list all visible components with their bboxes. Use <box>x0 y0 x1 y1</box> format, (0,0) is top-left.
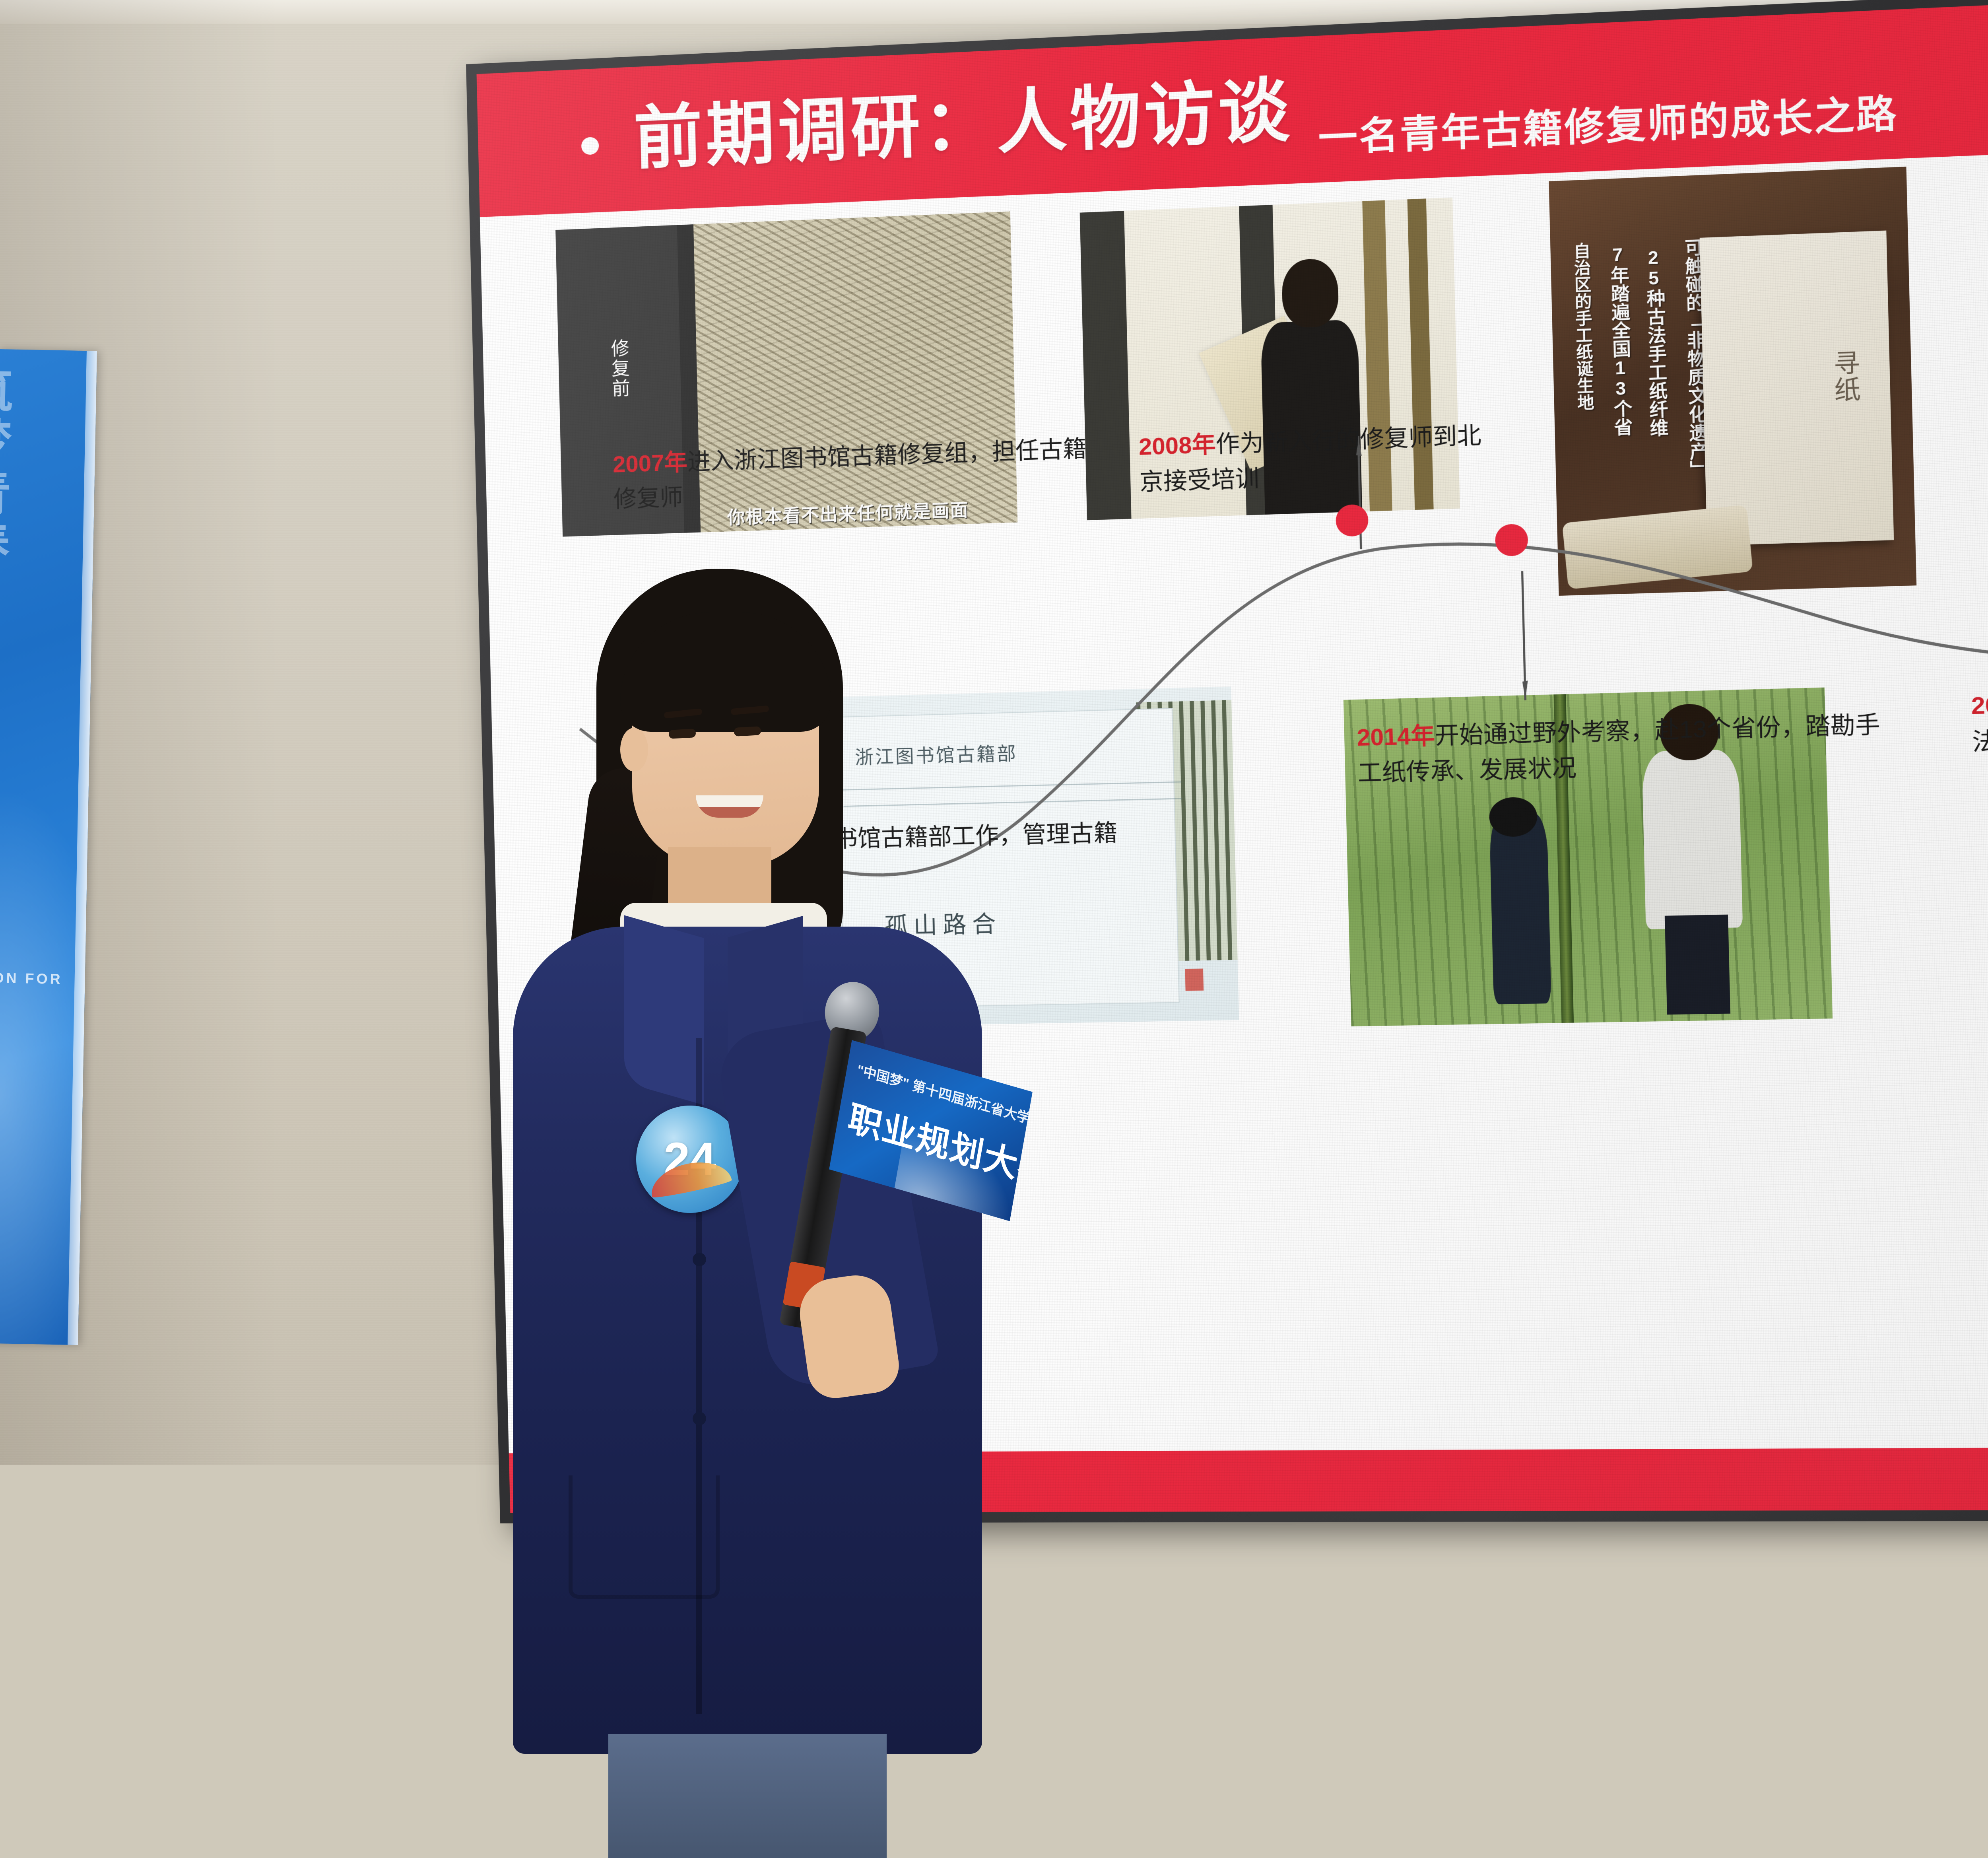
banner-line-1: 筑梦青春 <box>0 364 19 572</box>
jeans <box>608 1734 887 1858</box>
contestant-badge: 24 <box>636 1106 744 1213</box>
coat-button <box>693 1253 706 1266</box>
screenshot-root: 筑梦青春 生 TITION FOR 赛 前期调研：人物访谈 一名青年古籍修复师的… <box>0 0 1988 1858</box>
timeline-year-2023: 2023年 <box>1971 690 1988 719</box>
coat-pocket <box>569 1475 720 1599</box>
timeline-entry-2008: 2008年作为新入行的修复师到北京接受培训 <box>1138 417 1497 500</box>
coat-lapel-left <box>624 915 704 1105</box>
timeline-year-2007: 2007年 <box>612 449 687 478</box>
eye-left <box>668 729 696 739</box>
timeline-year-2008: 2008年 <box>1138 431 1216 460</box>
presenter: 24 "中国梦" 第十四届浙江省大学生 职业规划大赛 <box>489 569 1006 1857</box>
connector-line <box>1522 571 1526 700</box>
timeline-year-2014: 2014年 <box>1357 723 1435 751</box>
slide-subtitle: 一名青年古籍修复师的成长之路 <box>1318 82 1899 163</box>
timeline-entry-2014: 2014年开始通过野外考察，赴13个省份，踏勘手工纸传承、发展状况 <box>1357 707 1891 791</box>
timeline-entry-2023: 2023年出版《寻纸》，记录中国传统古法手工纸技艺之旅 <box>1971 676 1988 760</box>
slide-title: 前期调研：人物访谈 <box>633 75 1293 173</box>
ear <box>620 728 648 772</box>
connector-arrow <box>1522 680 1528 699</box>
eye-right <box>734 726 761 737</box>
coat-button <box>693 1412 706 1425</box>
timeline-text-2014: 开始通过野外考察，赴13个省份，踏勘手工纸传承、发展状况 <box>1357 711 1881 787</box>
banner-line-3: TITION FOR <box>0 969 63 987</box>
teeth <box>696 795 763 807</box>
bullet-icon <box>581 137 599 155</box>
